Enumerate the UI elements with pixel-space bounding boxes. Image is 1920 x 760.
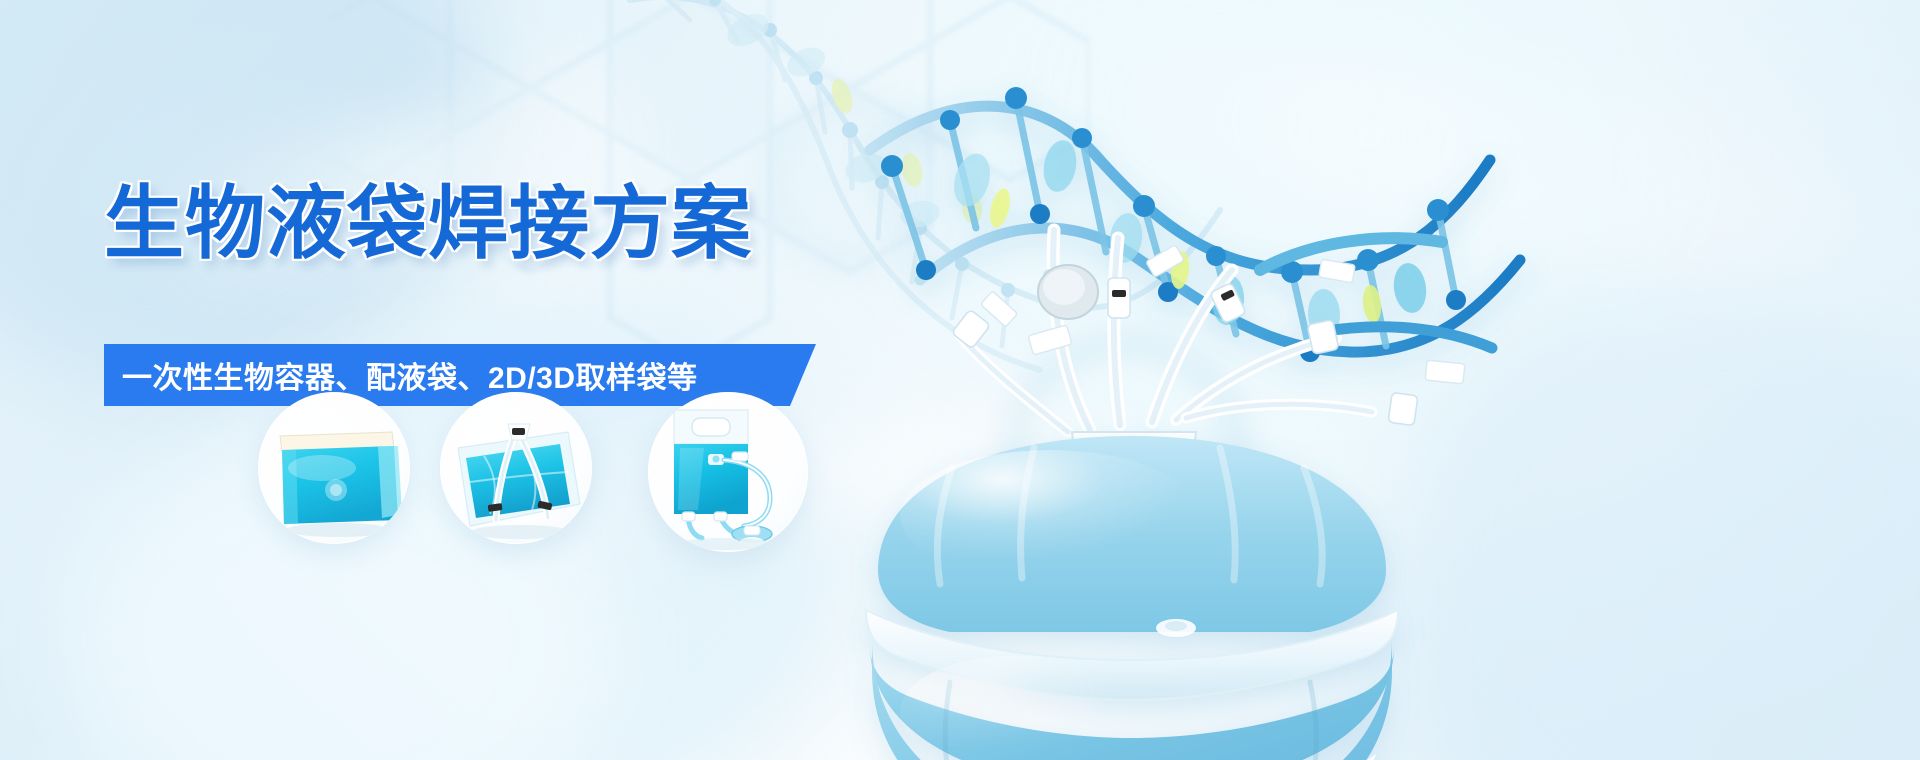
bio-bag-handle-tubing-icon (674, 410, 774, 550)
product-thumbnail-list (0, 0, 900, 760)
product-thumbnail[interactable] (258, 392, 410, 544)
product-thumbnail[interactable] (648, 392, 808, 552)
bag-port (1156, 619, 1196, 637)
promo-banner: 生物液袋焊接方案 一次性生物容器、配液袋、2D/3D取样袋等 (0, 0, 1920, 760)
filter-disc (1038, 265, 1098, 319)
bioreactor-bag (866, 436, 1398, 760)
product-thumbnail[interactable] (440, 392, 592, 544)
bio-bag-flat-icon (280, 432, 402, 537)
bio-bag-tubing-icon (458, 424, 580, 539)
